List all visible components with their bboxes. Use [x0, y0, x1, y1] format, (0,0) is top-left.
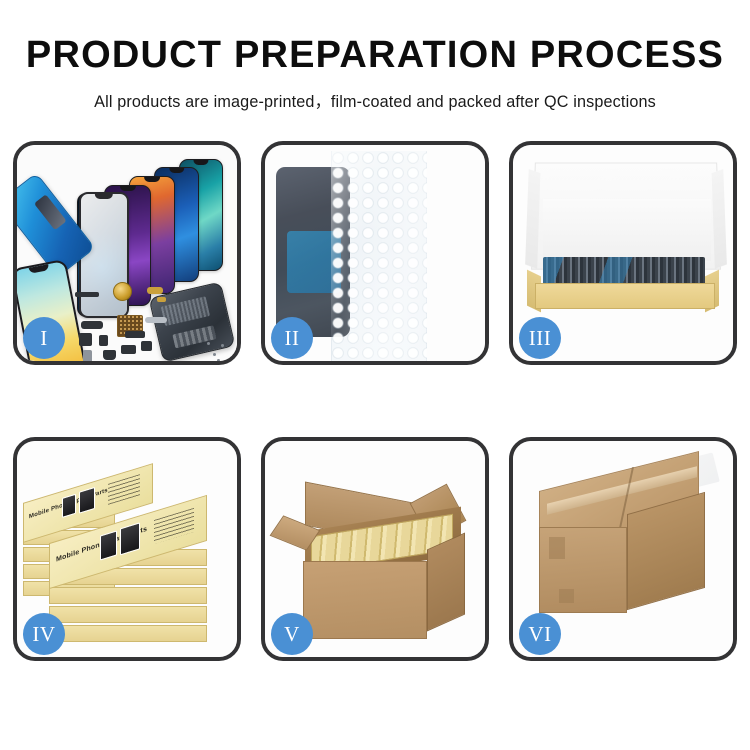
step-badge-3: III: [519, 317, 561, 359]
connector-part: [81, 321, 103, 329]
antenna-flex-part: [145, 317, 167, 323]
battery-connector-part: [83, 350, 92, 361]
vibrator-part: [103, 350, 116, 360]
carton-right-side: [427, 533, 465, 632]
process-step-panel-4: Mobile Phone Spare Parts Mobile Phone Sp…: [13, 437, 241, 661]
sealed-carton-right-side: [627, 492, 705, 610]
step-badge-5: V: [271, 613, 313, 655]
step-badge-6: VI: [519, 613, 561, 655]
process-step-panel-1: I: [13, 141, 241, 365]
camera-module-part: [79, 333, 92, 346]
process-step-panel-2: II: [261, 141, 489, 365]
small-module-part: [99, 335, 108, 346]
speaker-coil-part: [113, 282, 132, 301]
plastic-sheen: [331, 151, 427, 361]
process-step-grid: I II III: [13, 141, 737, 661]
step-badge-2: II: [271, 317, 313, 359]
speaker-part: [121, 345, 136, 354]
step-badge-4: IV: [23, 613, 65, 655]
carton-handle-tab-upper: [549, 537, 565, 559]
packed-wrapped-items: [543, 257, 705, 285]
process-step-panel-3: III: [509, 141, 737, 365]
shield-plate-part: [125, 331, 145, 338]
gold-clip-part: [157, 297, 166, 302]
foam-padding: [543, 199, 711, 261]
step-badge-1: I: [23, 317, 65, 359]
carton-handle-tab-lower: [559, 589, 574, 603]
process-step-panel-5: V: [261, 437, 489, 661]
header: PRODUCT PREPARATION PROCESS All products…: [0, 0, 750, 112]
gold-bracket-part: [147, 287, 163, 294]
page-title: PRODUCT PREPARATION PROCESS: [0, 36, 750, 76]
page-subtitle: All products are image-printed，film-coat…: [0, 88, 750, 112]
product-preparation-infographic: PRODUCT PREPARATION PROCESS All products…: [0, 0, 750, 750]
carton-front-face: [303, 561, 427, 639]
process-step-panel-6: VI: [509, 437, 737, 661]
kraft-box-front: [535, 283, 715, 309]
button-part: [141, 341, 152, 351]
flex-strip-part: [75, 292, 99, 297]
